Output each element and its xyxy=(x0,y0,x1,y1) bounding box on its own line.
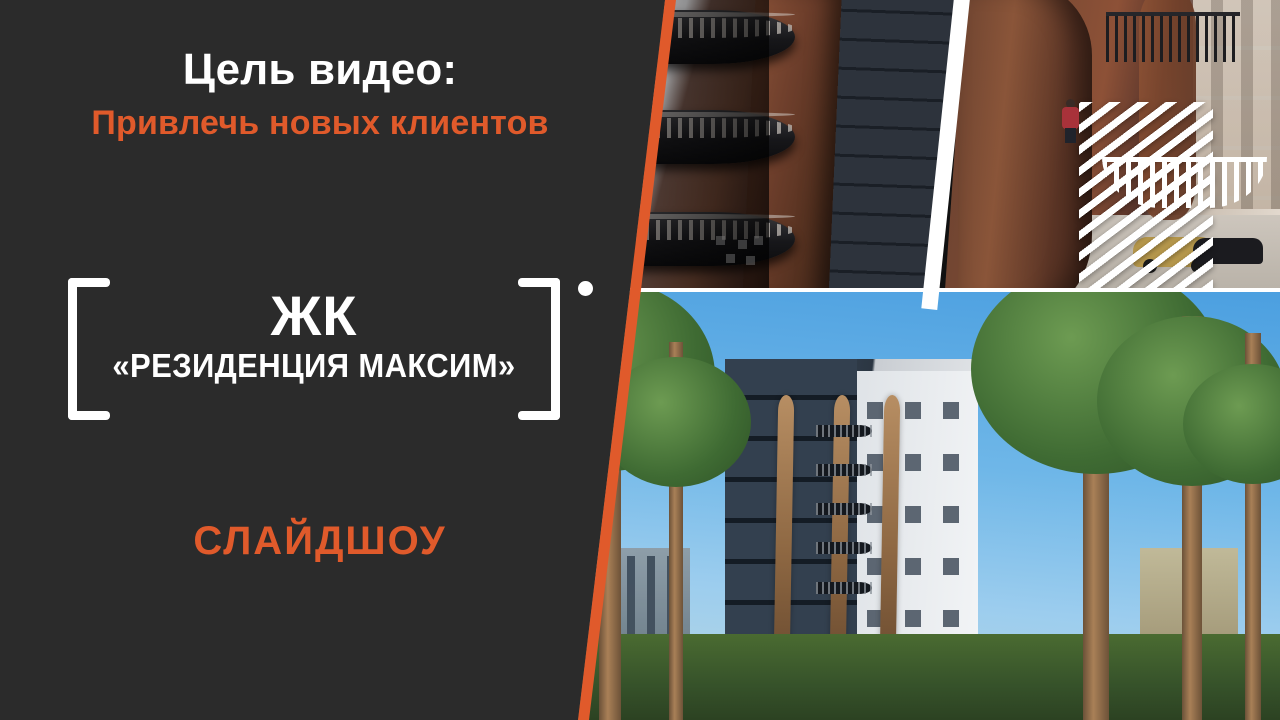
photo-main-building xyxy=(725,359,978,660)
photo-horizontal-seam xyxy=(578,288,1280,292)
photo-lawn xyxy=(578,634,1280,720)
photo-balcony-row xyxy=(816,425,872,437)
goal-title: Цель видео: xyxy=(0,45,640,95)
bracket-stroke-top xyxy=(68,278,110,287)
photo-pine-tree xyxy=(1083,290,1109,720)
photo-pine-tree xyxy=(669,342,683,720)
photo-person-body xyxy=(1062,107,1079,129)
photo-balcony-row xyxy=(816,582,872,594)
bracket-stroke-top xyxy=(518,278,560,287)
photo-balcony-row xyxy=(816,503,872,515)
photo-pine-tree xyxy=(1245,333,1261,720)
photo-balcony-row xyxy=(816,464,872,476)
photo-staircase-entrance xyxy=(945,0,1280,290)
slide-root: Цель видео: Привлечь новых клиентов ЖК «… xyxy=(0,0,1280,720)
project-name: «РЕЗИДЕНЦИЯ МАКСИМ» xyxy=(64,347,564,385)
photo-white-wall xyxy=(857,371,978,660)
dot-accent-icon xyxy=(578,281,593,296)
project-prefix: ЖК xyxy=(68,288,560,344)
goal-subtitle: Привлечь новых клиентов xyxy=(0,104,640,143)
photo-person-legs xyxy=(1065,128,1076,143)
photo-balcony-row xyxy=(816,542,872,554)
photo-rust-column xyxy=(958,0,1092,290)
format-label: СЛАЙДШОУ xyxy=(0,519,640,564)
photo-balcony-railing xyxy=(1106,12,1240,62)
photo-pine-tree xyxy=(1182,316,1202,720)
bracket-stroke-bottom xyxy=(518,411,560,420)
bracket-stroke-bottom xyxy=(68,411,110,420)
photo-person-red-jacket xyxy=(1062,99,1079,143)
photo-window-detail xyxy=(716,236,776,268)
text-panel: Цель видео: Привлечь новых клиентов ЖК «… xyxy=(0,0,660,720)
photo-building-balconies xyxy=(630,0,960,290)
photo-complex-exterior xyxy=(578,290,1280,720)
